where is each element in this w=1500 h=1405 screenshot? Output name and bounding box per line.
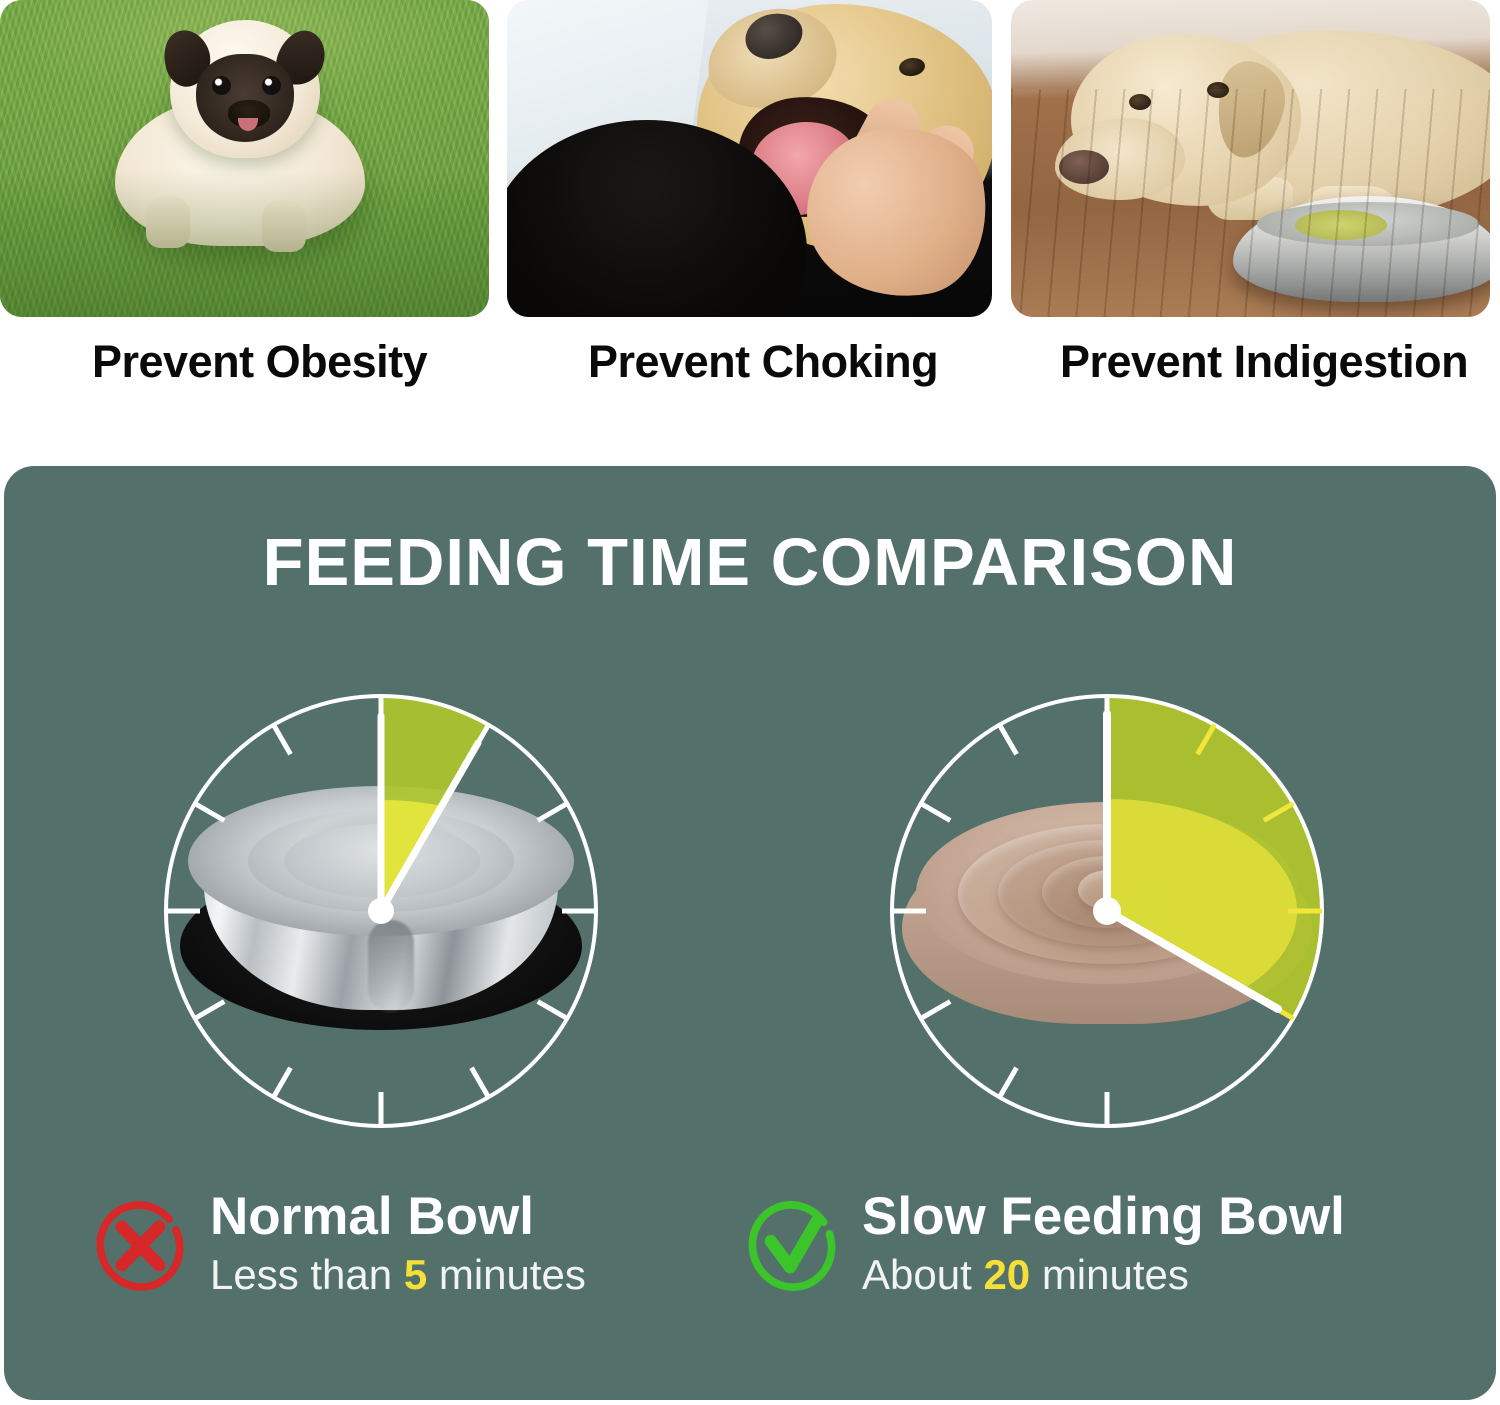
hand-feeding-dog-illustration xyxy=(507,0,992,317)
result-sub-value: 20 xyxy=(983,1251,1030,1298)
check-mark-icon xyxy=(744,1198,840,1294)
labrador-right-eye xyxy=(1207,82,1229,98)
caption-prevent-indigestion: Prevent Indigestion xyxy=(1060,336,1468,388)
dial-center-hub xyxy=(1093,897,1121,925)
slow-feeding-bowl-dial xyxy=(882,686,1332,1136)
normal-bowl-dial xyxy=(156,686,606,1136)
labrador-snout xyxy=(1055,118,1185,200)
labrador-left-eye xyxy=(1129,94,1151,110)
clock-dial-graphic xyxy=(156,686,606,1136)
result-text-block: Slow Feeding Bowl About 20 minutes xyxy=(862,1186,1345,1299)
benefit-captions: Prevent Obesity Prevent Choking Prevent … xyxy=(0,336,1500,422)
clock-dial-graphic xyxy=(882,686,1332,1136)
labrador-nose xyxy=(1059,150,1109,184)
pug-right-eye xyxy=(262,76,281,95)
benefit-photo-strip xyxy=(0,0,1500,320)
pug-front-left-leg xyxy=(146,196,190,248)
benefit-photo-prevent-obesity xyxy=(0,0,489,317)
labrador-with-bowl-illustration xyxy=(1011,0,1490,317)
bowl-food xyxy=(1295,210,1387,240)
result-slow-feeding-bowl: Slow Feeding Bowl About 20 minutes xyxy=(744,1186,1464,1326)
caption-prevent-obesity: Prevent Obesity xyxy=(92,336,427,388)
pug-on-grass-illustration xyxy=(0,0,489,317)
result-sub-suffix: minutes xyxy=(427,1251,586,1298)
labrador-paw-left xyxy=(1207,176,1293,220)
result-sub-prefix: About xyxy=(862,1251,983,1298)
steel-bowl-on-floor xyxy=(1233,196,1490,302)
result-title: Normal Bowl xyxy=(210,1186,586,1247)
caption-prevent-choking: Prevent Choking xyxy=(588,336,938,388)
result-subtitle: About 20 minutes xyxy=(862,1251,1345,1299)
benefit-photo-prevent-indigestion xyxy=(1011,0,1490,317)
result-sub-prefix: Less than xyxy=(210,1251,404,1298)
result-title: Slow Feeding Bowl xyxy=(862,1186,1345,1247)
cross-mark-icon xyxy=(92,1198,188,1294)
pug-front-right-leg xyxy=(262,200,306,252)
dial-center-hub xyxy=(368,898,394,924)
labrador-head xyxy=(1071,34,1301,206)
benefit-photo-prevent-choking xyxy=(507,0,992,317)
result-normal-bowl: Normal Bowl Less than 5 minutes xyxy=(92,1186,732,1326)
result-sub-suffix: minutes xyxy=(1030,1251,1189,1298)
pug-left-eye xyxy=(212,76,231,95)
page-title: FEEDING TIME COMPARISON xyxy=(4,524,1496,601)
dial-tick-marks xyxy=(892,696,1107,1126)
result-sub-value: 5 xyxy=(404,1251,427,1298)
feeding-time-comparison-panel: FEEDING TIME COMPARISON xyxy=(4,466,1496,1400)
result-subtitle: Less than 5 minutes xyxy=(210,1251,586,1299)
labrador-paw-right xyxy=(1307,186,1393,230)
result-text-block: Normal Bowl Less than 5 minutes xyxy=(210,1186,586,1299)
